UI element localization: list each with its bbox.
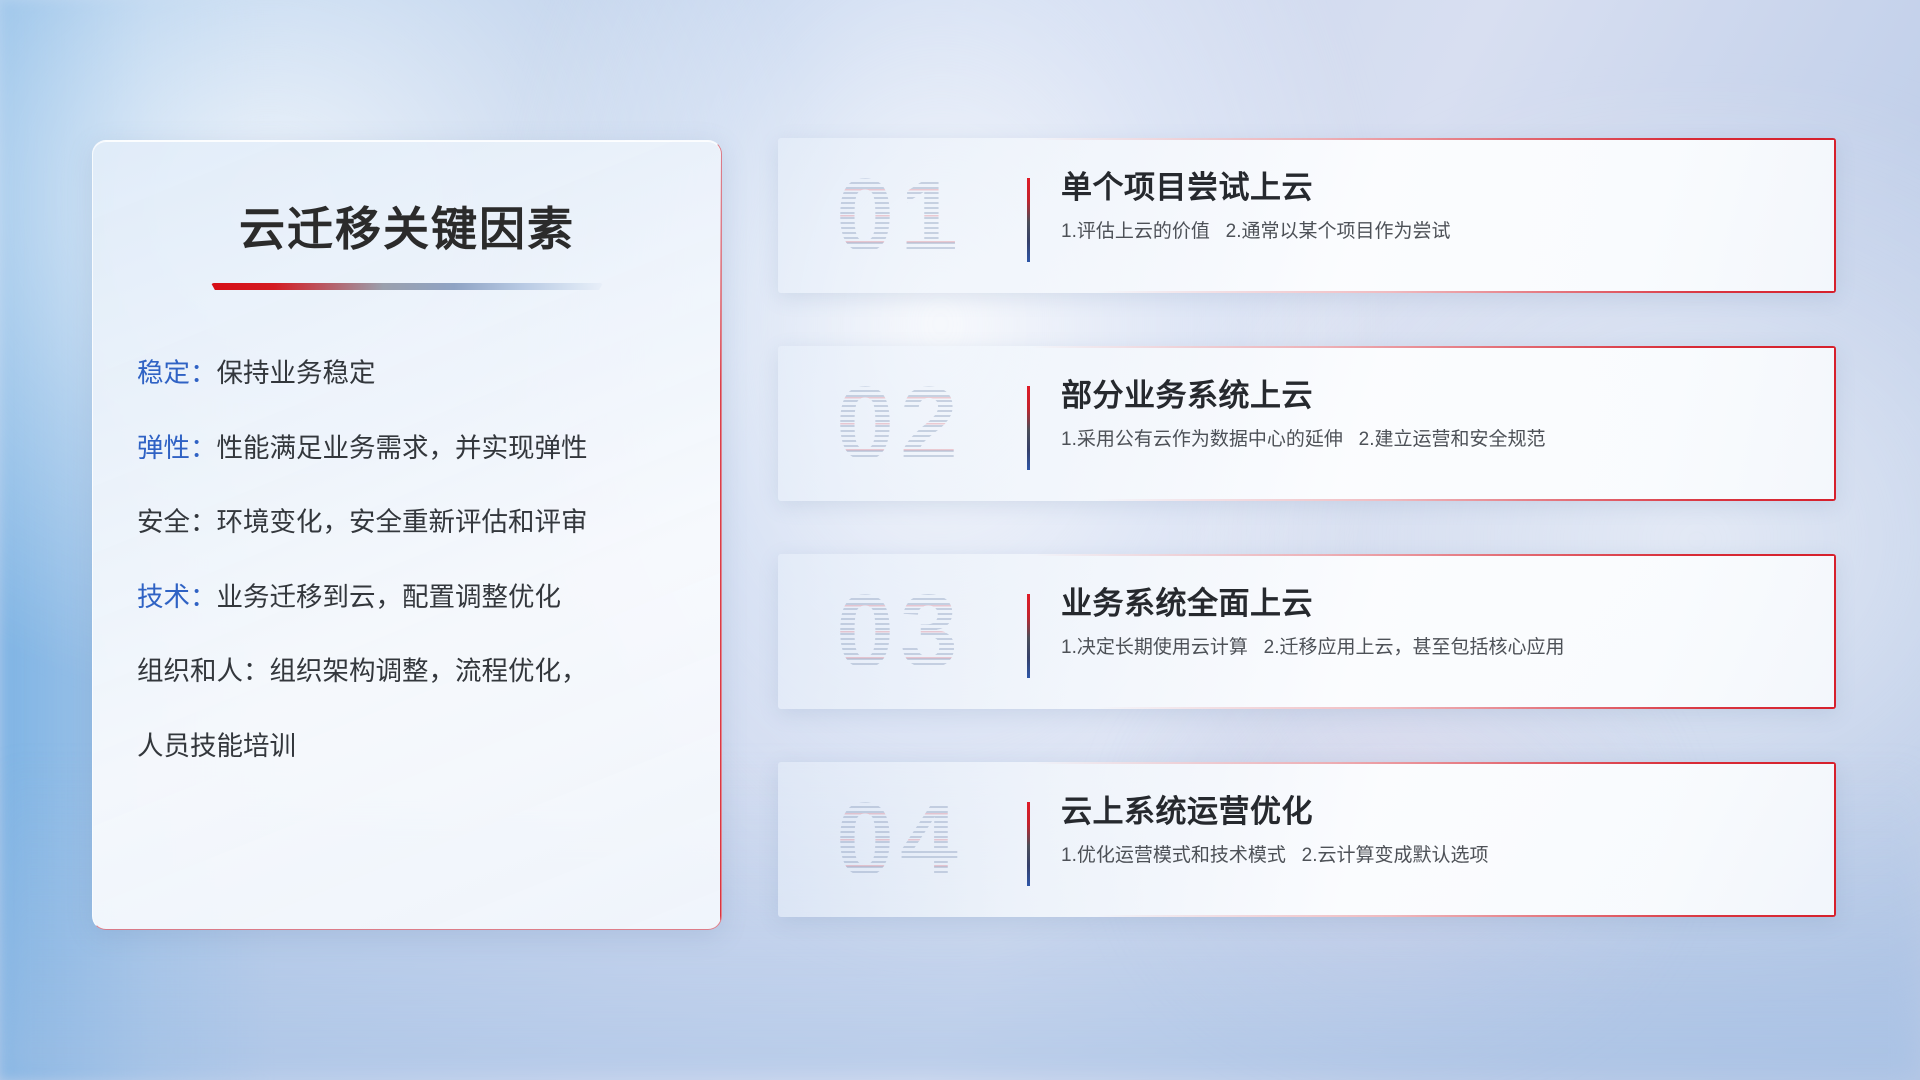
factor-item-stability: 稳定：保持业务稳定 bbox=[137, 360, 721, 387]
factor-label: 组织和人： bbox=[137, 656, 270, 686]
factor-text: 保持业务稳定 bbox=[217, 358, 376, 388]
stage-card-body: 单个项目尝试上云 1.评估上云的价值 2.通常以某个项目作为尝试 bbox=[1061, 170, 1796, 244]
stage-description: 1.评估上云的价值 2.通常以某个项目作为尝试 bbox=[1061, 220, 1796, 245]
stage-card-03[interactable]: 03 03 业务系统全面上云 1.决定长期使用云计算 2.迁移应用上云，甚至包括… bbox=[778, 554, 1836, 709]
stage-card-list: 01 01 单个项目尝试上云 1.评估上云的价值 2.通常以某个项目作为尝试 0… bbox=[778, 138, 1836, 917]
stage-description: 1.采用公有云作为数据中心的延伸 2.建立运营和安全规范 bbox=[1061, 428, 1796, 453]
card-right-edge bbox=[1834, 138, 1836, 293]
factor-text: 组织架构调整，流程优化， bbox=[270, 656, 588, 686]
stage-card-body: 部分业务系统上云 1.采用公有云作为数据中心的延伸 2.建立运营和安全规范 bbox=[1061, 378, 1796, 452]
stage-title: 单个项目尝试上云 bbox=[1061, 170, 1796, 206]
card-top-edge bbox=[778, 762, 1836, 764]
card-top-edge bbox=[778, 346, 1836, 348]
stage-card-body: 业务系统全面上云 1.决定长期使用云计算 2.迁移应用上云，甚至包括核心应用 bbox=[1061, 586, 1796, 660]
stage-card-02[interactable]: 02 02 部分业务系统上云 1.采用公有云作为数据中心的延伸 2.建立运营和安… bbox=[778, 346, 1836, 501]
stage-number-ghost-tint: 04 bbox=[800, 776, 1000, 904]
card-top-edge bbox=[778, 138, 1836, 140]
card-top-edge bbox=[778, 554, 1836, 556]
stage-divider-bar bbox=[1027, 386, 1030, 470]
stage-card-body: 云上系统运营优化 1.优化运营模式和技术模式 2.云计算变成默认选项 bbox=[1061, 794, 1796, 868]
factor-label: 弹性： bbox=[137, 433, 217, 463]
stage-description: 1.优化运营模式和技术模式 2.云计算变成默认选项 bbox=[1061, 844, 1796, 869]
stage-card-01[interactable]: 01 01 单个项目尝试上云 1.评估上云的价值 2.通常以某个项目作为尝试 bbox=[778, 138, 1836, 293]
card-right-edge bbox=[1834, 762, 1836, 917]
factor-item-technology: 技术：业务迁移到云，配置调整优化 bbox=[137, 584, 721, 611]
card-bottom-edge bbox=[778, 499, 1836, 501]
stage-card-04[interactable]: 04 04 云上系统运营优化 1.优化运营模式和技术模式 2.云计算变成默认选项 bbox=[778, 762, 1836, 917]
page-title: 云迁移关键因素 bbox=[93, 193, 721, 259]
factor-text: 环境变化，安全重新评估和评审 bbox=[217, 507, 588, 537]
factor-label: 稳定： bbox=[137, 358, 217, 388]
card-bottom-edge bbox=[778, 707, 1836, 709]
factor-item-organization: 组织和人：组织架构调整，流程优化， bbox=[137, 658, 721, 685]
stage-number-ghost-tint: 02 bbox=[800, 360, 1000, 488]
factor-text: 人员技能培训 bbox=[137, 731, 296, 761]
factor-item-elasticity: 弹性：性能满足业务需求，并实现弹性 bbox=[137, 435, 721, 462]
stage-title: 云上系统运营优化 bbox=[1061, 794, 1796, 830]
stage-divider-bar bbox=[1027, 178, 1030, 262]
card-bottom-edge bbox=[778, 291, 1836, 293]
stage-number-ghost-tint: 03 bbox=[800, 568, 1000, 696]
key-factors-panel: 云迁移关键因素 稳定：保持业务稳定 弹性：性能满足业务需求，并实现弹性 安全：环… bbox=[92, 140, 722, 930]
stage-divider-bar bbox=[1027, 802, 1030, 886]
card-right-edge bbox=[1834, 554, 1836, 709]
stage-divider-bar bbox=[1027, 594, 1030, 678]
factor-item-security: 安全：环境变化，安全重新评估和评审 bbox=[137, 509, 721, 536]
factor-list: 稳定：保持业务稳定 弹性：性能满足业务需求，并实现弹性 安全：环境变化，安全重新… bbox=[137, 360, 721, 759]
stage-number-ghost-tint: 01 bbox=[800, 152, 1000, 280]
stage-description: 1.决定长期使用云计算 2.迁移应用上云，甚至包括核心应用 bbox=[1061, 636, 1796, 661]
card-right-edge bbox=[1834, 346, 1836, 501]
factor-text: 业务迁移到云，配置调整优化 bbox=[217, 582, 562, 612]
factor-label: 安全： bbox=[137, 507, 217, 537]
stage-title: 部分业务系统上云 bbox=[1061, 378, 1796, 414]
title-underline-rule bbox=[211, 283, 603, 290]
factor-label: 技术： bbox=[137, 582, 217, 612]
factor-text: 性能满足业务需求，并实现弹性 bbox=[217, 433, 588, 463]
stage-title: 业务系统全面上云 bbox=[1061, 586, 1796, 622]
card-bottom-edge bbox=[778, 915, 1836, 917]
factor-item-organization-cont: 人员技能培训 bbox=[137, 733, 721, 760]
